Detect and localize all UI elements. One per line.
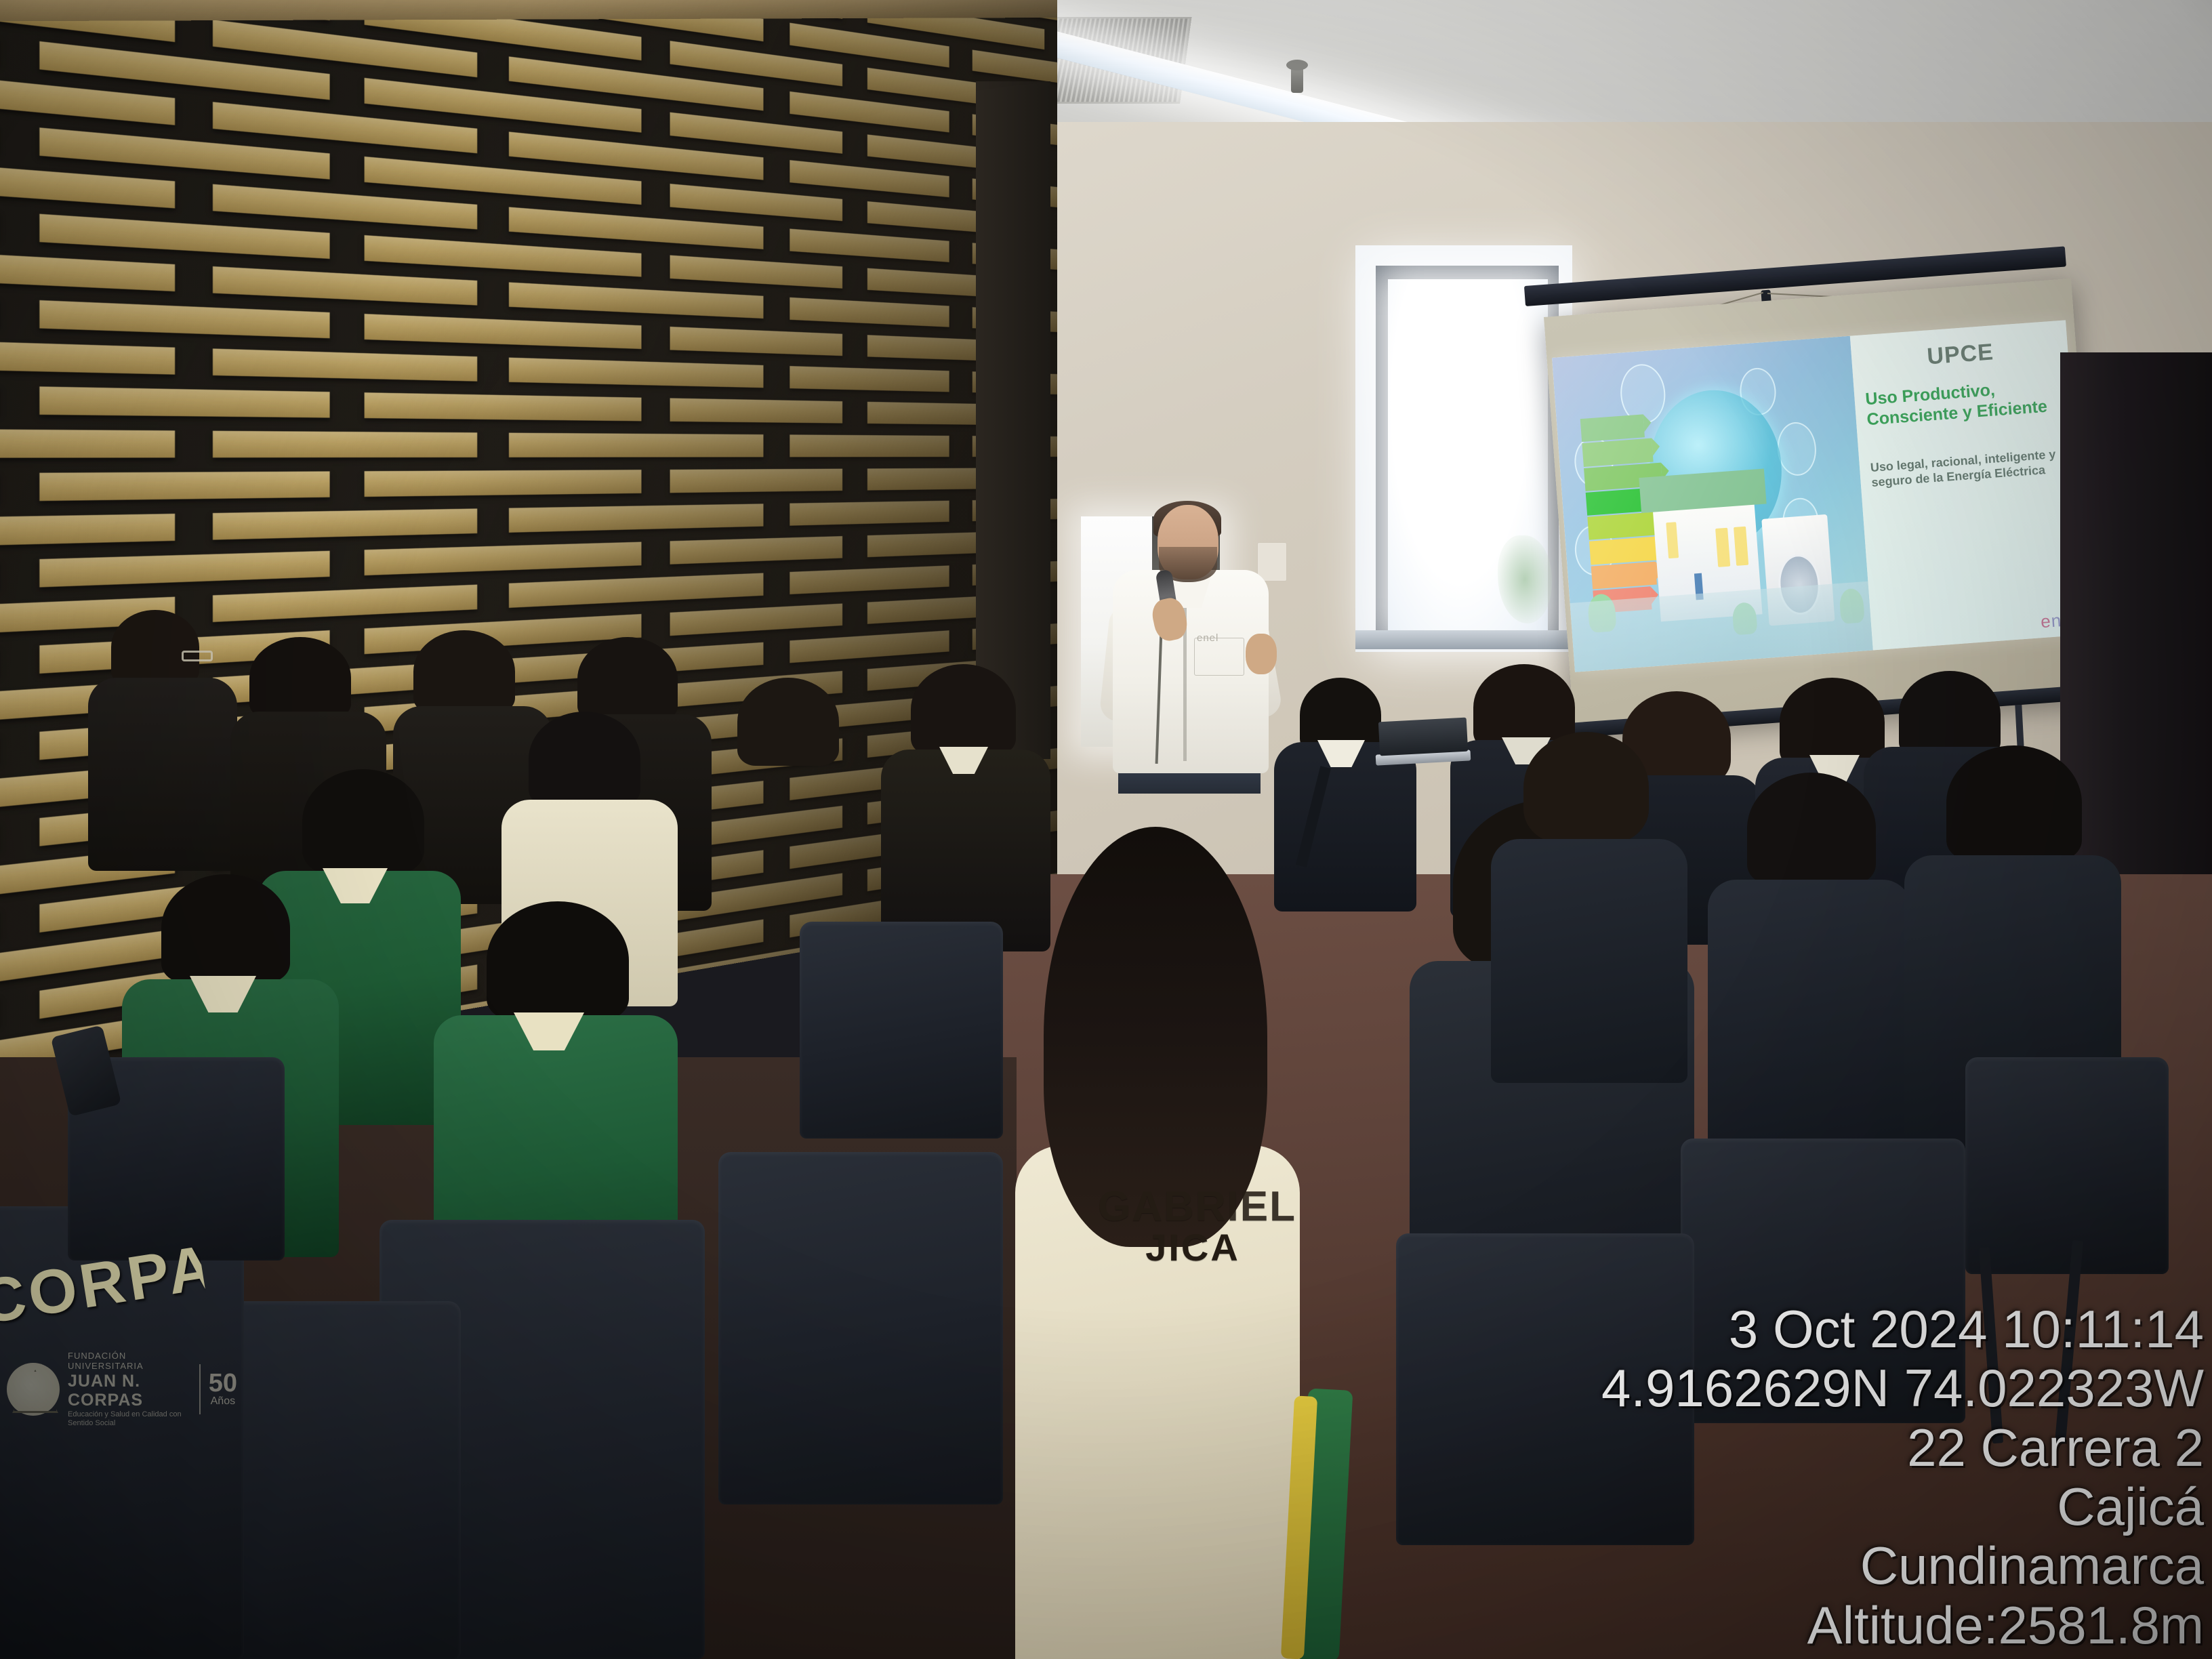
hair (1946, 745, 2082, 861)
wood-slat (790, 160, 949, 197)
hair (529, 712, 640, 806)
wood-slat (213, 184, 477, 230)
energy-bar (1591, 561, 1657, 589)
wood-slat (39, 551, 329, 588)
slat-wall-right-edge (976, 81, 1050, 759)
wood-slat (670, 255, 843, 289)
wood-slat (670, 536, 843, 565)
wood-slat (0, 429, 175, 458)
wood-slat (790, 366, 949, 392)
torso (88, 678, 237, 871)
wood-slat (670, 184, 843, 221)
slat-row (0, 426, 1057, 459)
gps-stamp-overlay: 3 Oct 2024 10:11:14 4.9162629N 74.022323… (1601, 1300, 2204, 1655)
fire-sprinkler-icon (1291, 64, 1303, 93)
gps-region: Cundinamarca (1601, 1536, 2204, 1595)
eyeglasses-icon (182, 651, 213, 661)
slide-body-text: Uso legal, racional, inteligente y segur… (1870, 447, 2068, 490)
device-icon (1776, 421, 1818, 477)
wood-slat (790, 228, 949, 262)
wood-slat (39, 471, 329, 501)
wood-slat (365, 392, 642, 421)
wood-slat (790, 91, 949, 132)
wood-slat (509, 283, 764, 319)
university-seal-icon (7, 1363, 60, 1416)
hair (111, 610, 199, 684)
hair (911, 664, 1016, 755)
slide-illustration (1552, 336, 1873, 672)
presenter: enel (1078, 505, 1294, 776)
wood-slat (0, 250, 175, 291)
hair (413, 630, 515, 713)
wood-slat (365, 314, 642, 349)
energy-bar (1582, 438, 1654, 467)
audience-member (1491, 732, 1687, 1084)
hair (737, 678, 839, 766)
house-window (1734, 527, 1748, 566)
university-logo-text: FUNDACIÓN UNIVERSITARIA JUAN N. CORPAS E… (68, 1351, 191, 1428)
wood-slat (213, 348, 477, 381)
shirt-print-line-1: GABRIEL (1098, 1183, 1288, 1231)
wood-slat (509, 433, 764, 457)
wood-slat (39, 386, 329, 417)
wood-slat (509, 358, 764, 388)
hair (1899, 671, 2001, 758)
wood-slat (670, 604, 843, 636)
wood-slat (670, 398, 843, 423)
wood-slat (509, 207, 764, 249)
hair (487, 901, 629, 1020)
wood-slat (670, 112, 843, 154)
audience-member (1708, 773, 1911, 1152)
gps-altitude: Altitude:2581.8m (1601, 1596, 2204, 1655)
wood-slat (790, 630, 949, 663)
chair (1965, 1057, 2169, 1274)
slide-subtitle: Uso Productivo, Consciente y Eficiente (1865, 375, 2064, 430)
photo-canvas: UPCE Uso Productivo, Consciente y Eficie… (0, 0, 2212, 1659)
house-window (1715, 528, 1730, 567)
hair (161, 874, 290, 983)
wood-slat (509, 573, 764, 608)
hair (302, 769, 424, 874)
wood-slat (365, 235, 642, 276)
wood-slat (670, 327, 843, 356)
presenter-right-hand (1246, 634, 1277, 674)
student-shirt-print: GABRIEL JICA (1098, 1183, 1288, 1269)
hair (577, 637, 678, 721)
torso (1708, 880, 1911, 1151)
anniversary-word: Años (209, 1395, 237, 1408)
torso (1491, 839, 1687, 1083)
logo-divider (199, 1364, 201, 1414)
gps-coordinates: 4.9162629N 74.022323W (1601, 1359, 2204, 1418)
house-window (1666, 522, 1679, 558)
wood-slat (0, 161, 175, 208)
laptop-screen (1378, 718, 1468, 756)
wood-slat (213, 431, 477, 458)
university-logo-line2: JUAN N. CORPAS (68, 1372, 191, 1411)
hair (1747, 773, 1876, 884)
window-sill (1355, 630, 1572, 649)
energy-bar (1589, 536, 1662, 565)
gps-street: 22 Carrera 2 (1601, 1418, 2204, 1477)
slide-text-panel: UPCE Uso Productivo, Consciente y Eficie… (1850, 320, 2089, 650)
presentation-slide: UPCE Uso Productivo, Consciente y Eficie… (1552, 320, 2089, 672)
wood-slat (509, 504, 764, 533)
university-logo-line3: Educación y Salud en Calidad con Sentido… (68, 1410, 191, 1427)
slide-title: UPCE (1862, 334, 2059, 375)
gps-city: Cajicá (1601, 1477, 2204, 1536)
chair (800, 922, 1003, 1139)
audience-member (712, 678, 874, 949)
university-logo-line1: FUNDACIÓN UNIVERSITARIA (68, 1351, 191, 1372)
energy-bar (1580, 414, 1645, 442)
hair (249, 637, 351, 718)
wood-slat (0, 514, 175, 548)
wood-slat (790, 298, 949, 327)
university-logo: FUNDACIÓN UNIVERSITARIA JUAN N. CORPAS E… (7, 1349, 237, 1430)
wood-slat (790, 565, 949, 594)
wood-slat (790, 434, 949, 457)
presenter-shirt-logo: enel (1197, 632, 1218, 644)
wood-slat (365, 542, 642, 576)
anniversary-badge: 50 Años (209, 1371, 237, 1408)
wood-slat (213, 585, 477, 622)
wood-slat (39, 214, 329, 259)
hair (1523, 732, 1649, 844)
wood-slat (213, 266, 477, 306)
wood-slat (790, 501, 949, 526)
anniversary-number: 50 (209, 1371, 237, 1395)
wood-slat (0, 340, 175, 375)
wood-slat (365, 470, 642, 497)
wood-slat (39, 300, 329, 338)
audience-member (88, 610, 237, 867)
chair (718, 1152, 1003, 1504)
wood-slat (670, 469, 843, 493)
shirt-print-line-2: JICA (1098, 1225, 1288, 1269)
gps-datetime: 3 Oct 2024 10:11:14 (1601, 1300, 2204, 1359)
wood-slat (213, 508, 477, 539)
